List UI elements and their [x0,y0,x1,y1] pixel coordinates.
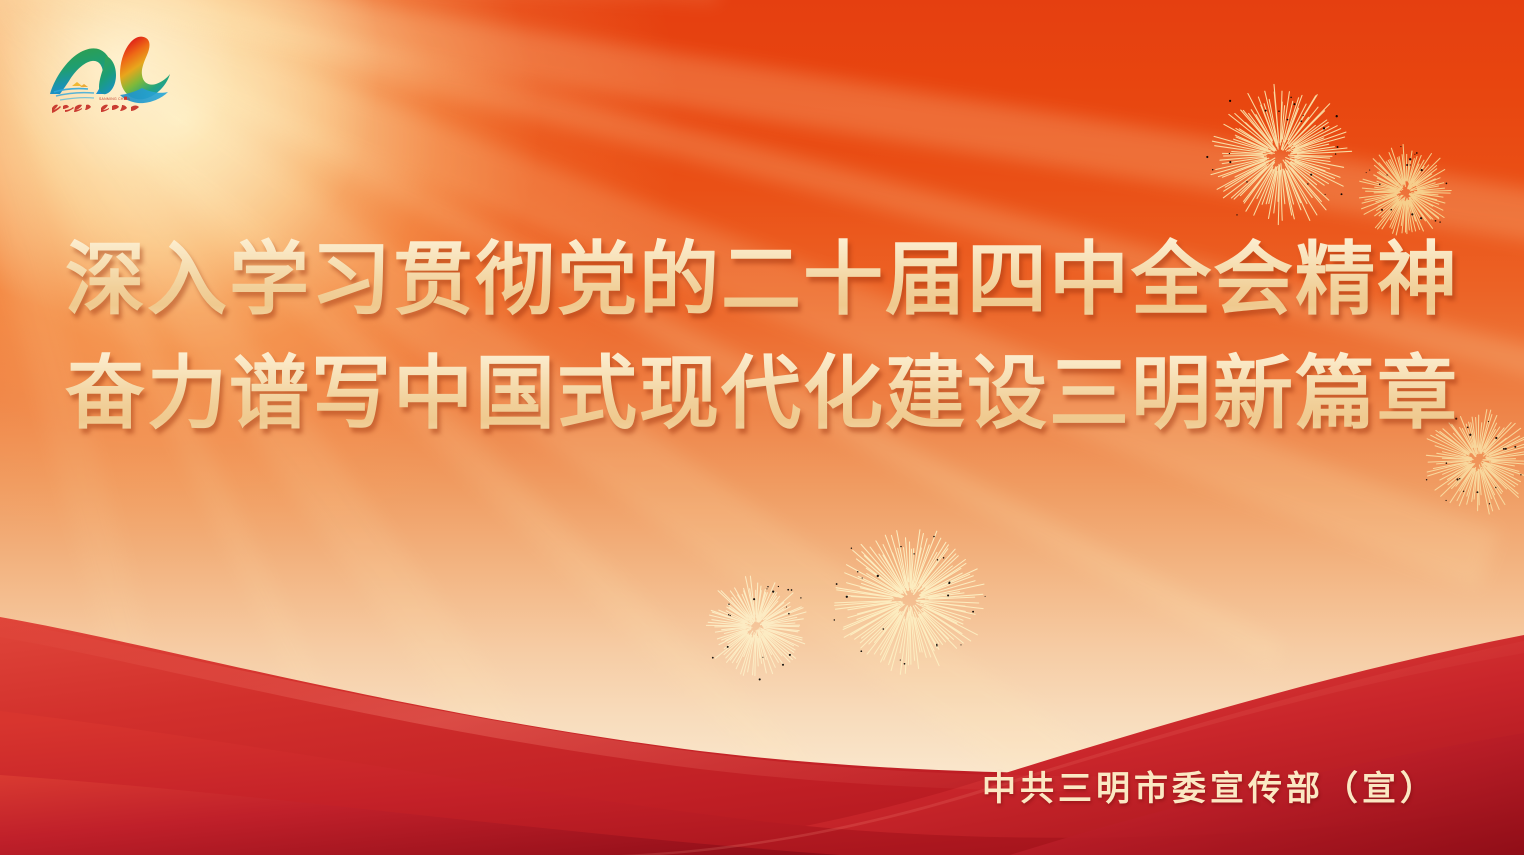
poster-canvas: SANMING CHINA 深入学习贯彻党的二十届四中全会精神 奋力谱写中国式现… [0,0,1524,855]
logo-slogan-calligraphy [52,105,139,113]
poster-title-block: 深入学习贯彻党的二十届四中全会精神 奋力谱写中国式现代化建设三明新篇章 [0,226,1524,450]
attribution-text: 中共三明市委宣传部（宣） [982,761,1438,810]
title-line-2: 奋力谱写中国式现代化建设三明新篇章 [0,340,1524,450]
title-line-1: 深入学习贯彻党的二十届四中全会精神 [0,226,1524,336]
sanming-logo: SANMING CHINA [46,22,182,114]
